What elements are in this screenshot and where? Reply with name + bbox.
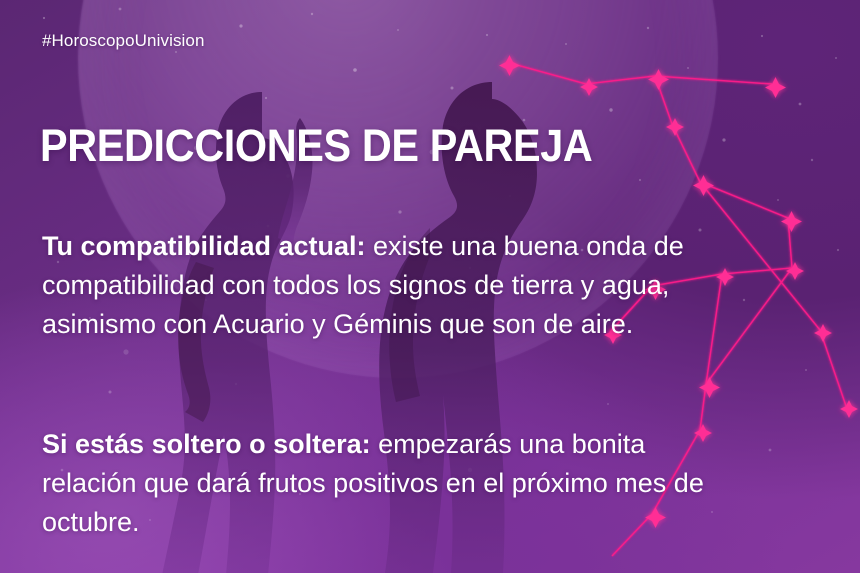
page-title: PREDICCIONES DE PAREJA: [40, 122, 592, 170]
hashtag-label: #HoroscopoUnivision: [42, 31, 205, 51]
card-content: #HoroscopoUnivision PREDICCIONES DE PARE…: [0, 0, 860, 573]
horoscope-card: #HoroscopoUnivision PREDICCIONES DE PARE…: [0, 0, 860, 573]
paragraph-single-lead: Si estás soltero o soltera:: [42, 429, 371, 459]
paragraph-compatibility: Tu compatibilidad actual: existe una bue…: [42, 227, 742, 344]
paragraph-compatibility-lead: Tu compatibilidad actual:: [42, 231, 366, 261]
paragraph-single: Si estás soltero o soltera: empezarás un…: [42, 425, 742, 542]
